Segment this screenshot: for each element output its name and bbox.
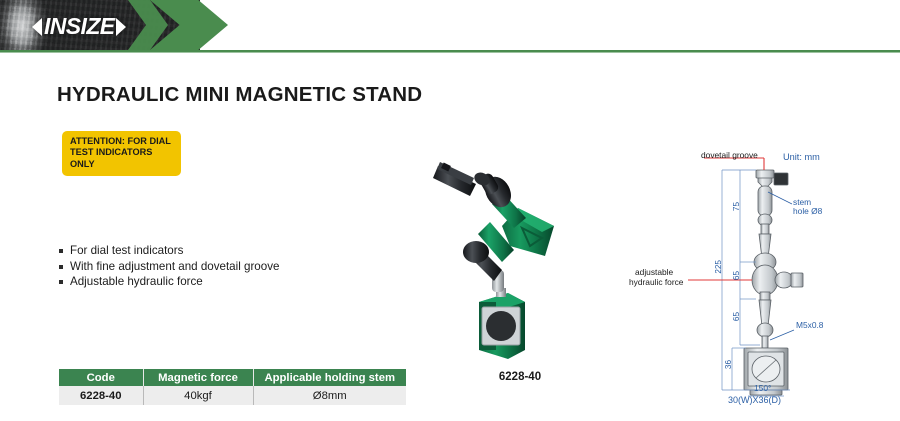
indicator-holder	[433, 162, 492, 196]
square-bullet-icon	[59, 280, 63, 284]
column-header-code: Code	[59, 369, 143, 386]
feature-text: Adjustable hydraulic force	[70, 274, 203, 290]
callout-base-size: 30(W)X36(D)	[728, 396, 781, 406]
catalog-page: INSIZE HYDRAULIC MINI MAGNETIC STAND ATT…	[0, 0, 900, 421]
feature-list: For dial test indicators With fine adjus…	[59, 243, 279, 290]
dimension-mid-segment: 65	[732, 271, 741, 280]
spec-table: Code Magnetic force Applicable holding s…	[59, 369, 406, 405]
attention-badge-line2: TEST INDICATORS ONLY	[70, 147, 175, 170]
column-header-stem: Applicable holding stem	[253, 369, 406, 386]
feature-text: For dial test indicators	[70, 243, 183, 259]
dimension-upper-segment: 75	[732, 202, 741, 211]
brand-name: INSIZE	[44, 13, 115, 40]
product-photo-svg	[430, 150, 610, 375]
brand-logo: INSIZE	[32, 13, 126, 40]
callout-stem-hole-line2: hole Ø8	[793, 207, 822, 217]
cell-stem: Ø8mm	[253, 386, 406, 405]
dimension-base-height: 36	[724, 360, 733, 369]
callout-thread-spec: M5x0.8	[796, 321, 823, 331]
feature-text: With fine adjustment and dovetail groove	[70, 259, 279, 275]
magnetic-base	[479, 288, 525, 359]
technical-drawing: Unit: mm	[660, 140, 900, 415]
table-row: 6228-40 40kgf Ø8mm	[59, 386, 406, 405]
column-header-force: Magnetic force	[143, 369, 253, 386]
product-caption: 6228-40	[430, 371, 610, 383]
header-divider-thin	[0, 52, 900, 53]
cell-code: 6228-40	[59, 386, 143, 405]
arrow-right-icon	[116, 18, 126, 36]
attention-badge-line1: ATTENTION: FOR DIAL	[70, 136, 175, 147]
arrow-left-icon	[32, 18, 42, 36]
list-item: For dial test indicators	[59, 243, 279, 259]
unit-note: Unit: mm	[783, 152, 820, 162]
callout-dovetail-groove: dovetail groove	[701, 151, 758, 161]
dimension-lower-segment: 65	[732, 312, 741, 321]
list-item: With fine adjustment and dovetail groove	[59, 259, 279, 275]
square-bullet-icon	[59, 249, 63, 253]
callout-hydraulic-force-line2: hydraulic force	[629, 278, 683, 288]
square-bullet-icon	[59, 265, 63, 269]
drawing-svg	[660, 140, 900, 415]
page-header: INSIZE	[0, 0, 900, 50]
dimension-overall-height: 225	[714, 260, 723, 274]
table-header-row: Code Magnetic force Applicable holding s…	[59, 369, 406, 386]
cell-force: 40kgf	[143, 386, 253, 405]
product-image: 6228-40	[430, 150, 610, 390]
list-item: Adjustable hydraulic force	[59, 274, 279, 290]
callout-base-angle: 150°	[754, 384, 771, 394]
attention-badge: ATTENTION: FOR DIAL TEST INDICATORS ONLY	[62, 131, 181, 176]
page-title: HYDRAULIC MINI MAGNETIC STAND	[57, 83, 422, 107]
